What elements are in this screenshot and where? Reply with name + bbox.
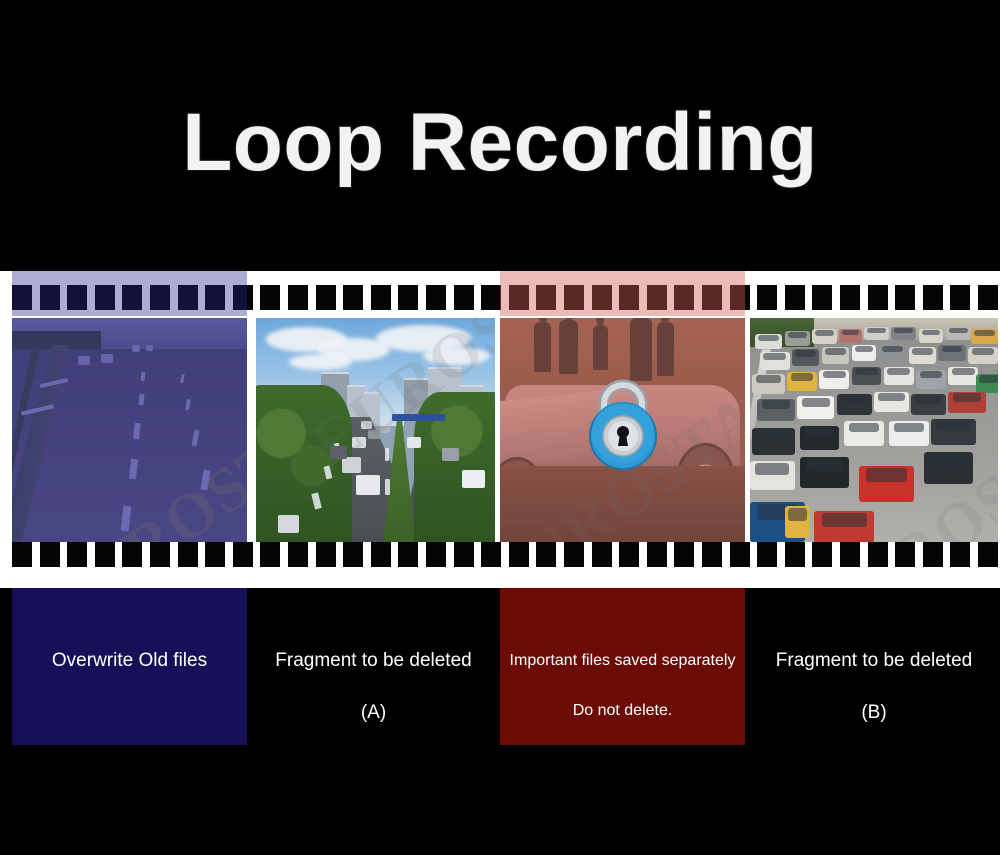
frame-city-expressway[interactable]: EUROSTAR <box>256 318 495 542</box>
caption-4-line-1: Fragment to be deleted <box>750 650 998 672</box>
caption-3-line-2: Do not delete. <box>500 702 745 720</box>
caption-2-line-2: (A) <box>252 702 495 724</box>
perforation <box>812 285 832 310</box>
perforation <box>12 542 32 567</box>
perforation <box>316 285 336 310</box>
filmstrip-frames: EUROSTAR <box>0 318 1000 542</box>
perforation <box>868 285 888 310</box>
perforation <box>426 285 446 310</box>
loop-recording-infographic: Loop Recording <box>0 0 1000 855</box>
title-bar: Loop Recording <box>0 78 1000 208</box>
traffic-jam-photo: EUROSTAR <box>750 318 998 542</box>
caption-fragment-a: Fragment to be deleted (A) <box>252 588 495 745</box>
perforation <box>316 542 336 567</box>
caption-2-line-1: Fragment to be deleted <box>252 650 495 672</box>
perforation <box>371 285 391 310</box>
perforation <box>895 542 915 567</box>
frame-car-accident[interactable]: EUROSTAR <box>500 318 745 542</box>
perforation <box>178 542 198 567</box>
perforation <box>454 285 474 310</box>
perforation <box>978 285 998 310</box>
perforation <box>40 542 60 567</box>
caption-4-line-2: (B) <box>750 702 998 724</box>
caption-important-files: Important files saved separately Do not … <box>500 588 745 745</box>
perforation <box>702 542 722 567</box>
perforation <box>343 285 363 310</box>
perforation <box>619 542 639 567</box>
perforation <box>205 542 225 567</box>
perforation <box>509 542 529 567</box>
perforation <box>785 542 805 567</box>
perforation <box>840 542 860 567</box>
perforation <box>95 542 115 567</box>
perforation <box>343 542 363 567</box>
perforation <box>481 542 501 567</box>
caption-1-line-1: Overwrite Old files <box>12 650 247 672</box>
perforation <box>371 542 391 567</box>
perforation <box>950 285 970 310</box>
perforation <box>895 285 915 310</box>
padlock-icon <box>580 374 666 472</box>
perforation <box>233 542 253 567</box>
perforation <box>674 542 694 567</box>
perforation <box>978 542 998 567</box>
perforation <box>757 285 777 310</box>
perforation <box>868 542 888 567</box>
frame-traffic-jam[interactable]: EUROSTAR <box>750 318 998 542</box>
page-title: Loop Recording <box>182 96 818 190</box>
perforation <box>840 285 860 310</box>
perforation <box>426 542 446 567</box>
perforation <box>398 542 418 567</box>
caption-fragment-b: Fragment to be deleted (B) <box>750 588 998 745</box>
perforation <box>67 542 87 567</box>
car-accident-scene-photo: EUROSTAR <box>500 318 745 542</box>
perforation <box>288 542 308 567</box>
perforation <box>536 542 556 567</box>
caption-3-line-1: Important files saved separately <box>500 652 745 670</box>
perforation <box>923 542 943 567</box>
perforation <box>592 542 612 567</box>
perforation-row-bottom <box>0 542 1000 574</box>
perforation <box>757 542 777 567</box>
perforation <box>730 542 750 567</box>
perforation <box>812 542 832 567</box>
dashcam-highway-photo: EUROSTAR <box>12 318 247 542</box>
perforation <box>785 285 805 310</box>
perforation <box>122 542 142 567</box>
caption-overwrite-old-files: Overwrite Old files <box>12 588 247 745</box>
frame-dashcam-highway[interactable]: EUROSTAR <box>12 318 247 542</box>
perforation <box>150 542 170 567</box>
perforation <box>398 285 418 310</box>
city-expressway-traffic-photo: EUROSTAR <box>256 318 495 542</box>
perforation <box>288 285 308 310</box>
filmstrip: EUROSTAR <box>0 271 1000 588</box>
perforation <box>923 285 943 310</box>
perforation <box>647 542 667 567</box>
perforation <box>260 542 280 567</box>
frame-1-tint-overlay <box>12 271 247 316</box>
frame-3-tint-overlay <box>500 271 745 316</box>
perforation <box>481 285 501 310</box>
perforation <box>564 542 584 567</box>
perforation <box>260 285 280 310</box>
perforation <box>950 542 970 567</box>
perforation <box>454 542 474 567</box>
